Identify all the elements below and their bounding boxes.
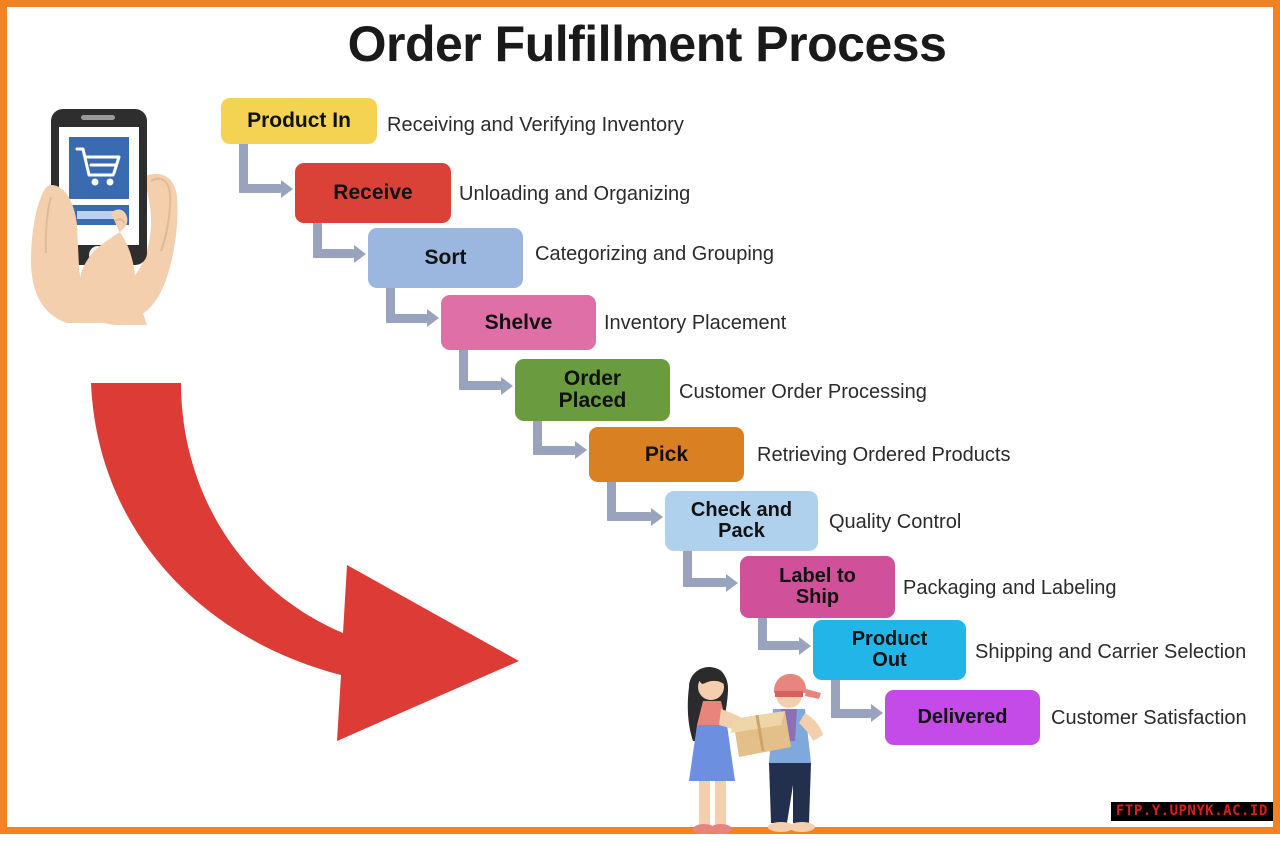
hands-holding-smartphone-illustration — [15, 85, 211, 325]
connector-arm — [459, 381, 501, 390]
flow-connector-arrow — [386, 286, 439, 323]
connector-arrowhead-icon — [575, 441, 587, 459]
flow-connector-arrow — [533, 419, 587, 455]
process-step-label-line: Check and — [691, 500, 792, 521]
process-step-product-in[interactable]: Product In — [221, 98, 377, 144]
process-step-label-line: Label to — [779, 566, 856, 587]
connector-arrowhead-icon — [354, 245, 366, 263]
delivery-handoff-illustration — [669, 665, 847, 837]
process-step-check-and-pack[interactable]: Check andPack — [665, 491, 818, 551]
process-step-delivered[interactable]: Delivered — [885, 690, 1040, 745]
process-step-description: Categorizing and Grouping — [535, 243, 774, 266]
process-step-label: Delivered — [917, 707, 1007, 728]
process-step-order-placed[interactable]: OrderPlaced — [515, 359, 670, 421]
process-step-label-line: Ship — [779, 587, 856, 608]
process-step-shelve[interactable]: Shelve — [441, 295, 596, 350]
process-step-label: Check andPack — [691, 500, 792, 542]
flow-connector-arrow — [683, 549, 738, 587]
diagram-canvas: Order Fulfillment Process — [0, 0, 1280, 834]
connector-arm — [607, 512, 651, 521]
process-step-label: Label toShip — [779, 566, 856, 608]
process-step-label: Product In — [247, 110, 351, 132]
connector-arrowhead-icon — [871, 704, 883, 722]
connector-arrowhead-icon — [281, 180, 293, 198]
process-step-description: Shipping and Carrier Selection — [975, 641, 1246, 664]
process-step-product-out[interactable]: ProductOut — [813, 620, 966, 680]
process-step-description: Quality Control — [829, 511, 961, 534]
flow-connector-arrow — [239, 142, 293, 193]
process-step-description: Receiving and Verifying Inventory — [387, 114, 684, 137]
connector-arrowhead-icon — [427, 309, 439, 327]
connector-arm — [386, 314, 427, 323]
process-step-label-line: Shelve — [485, 312, 553, 334]
process-step-description: Customer Order Processing — [679, 381, 927, 404]
process-step-label: Sort — [425, 247, 467, 269]
flow-connector-arrow — [313, 221, 366, 258]
connector-arrowhead-icon — [726, 574, 738, 592]
connector-arm — [683, 578, 726, 587]
process-step-description: Retrieving Ordered Products — [757, 444, 1010, 467]
flow-connector-arrow — [831, 678, 883, 718]
process-step-receive[interactable]: Receive — [295, 163, 451, 223]
red-curved-arrow — [85, 375, 525, 747]
process-step-label-line: Placed — [559, 390, 627, 412]
flow-connector-arrow — [758, 616, 811, 650]
connector-arm — [239, 184, 281, 193]
process-step-label-line: Product — [852, 629, 928, 650]
watermark: FTP.Y.UPNYK.AC.ID — [1111, 802, 1273, 821]
process-step-label-line: Order — [559, 368, 627, 390]
process-step-label-to-ship[interactable]: Label toShip — [740, 556, 895, 618]
connector-arm — [313, 249, 354, 258]
connector-arm — [533, 446, 575, 455]
process-step-label-line: Receive — [333, 182, 412, 204]
process-step-label: Receive — [333, 182, 412, 204]
connector-arm — [831, 709, 871, 718]
process-step-label-line: Delivered — [917, 707, 1007, 728]
process-step-label: OrderPlaced — [559, 368, 627, 412]
process-step-pick[interactable]: Pick — [589, 427, 744, 482]
flow-connector-arrow — [459, 348, 513, 390]
flow-connector-arrow — [607, 480, 663, 521]
process-step-label: ProductOut — [852, 629, 928, 671]
process-step-sort[interactable]: Sort — [368, 228, 523, 288]
process-step-description: Customer Satisfaction — [1051, 707, 1247, 730]
connector-arm — [758, 641, 799, 650]
process-step-label-line: Pick — [645, 444, 688, 466]
process-step-description: Packaging and Labeling — [903, 577, 1117, 600]
diagram-stage: Order Fulfillment Process — [7, 7, 1280, 841]
process-step-description: Unloading and Organizing — [459, 183, 690, 206]
process-step-label-line: Sort — [425, 247, 467, 269]
connector-arrowhead-icon — [799, 637, 811, 655]
process-step-label-line: Product In — [247, 110, 351, 132]
process-step-label: Shelve — [485, 312, 553, 334]
process-step-label-line: Out — [852, 650, 928, 671]
process-step-description: Inventory Placement — [604, 312, 786, 335]
connector-arrowhead-icon — [651, 508, 663, 526]
process-step-label-line: Pack — [691, 521, 792, 542]
page-title: Order Fulfillment Process — [7, 15, 1280, 73]
connector-arrowhead-icon — [501, 377, 513, 395]
process-step-label: Pick — [645, 444, 688, 466]
